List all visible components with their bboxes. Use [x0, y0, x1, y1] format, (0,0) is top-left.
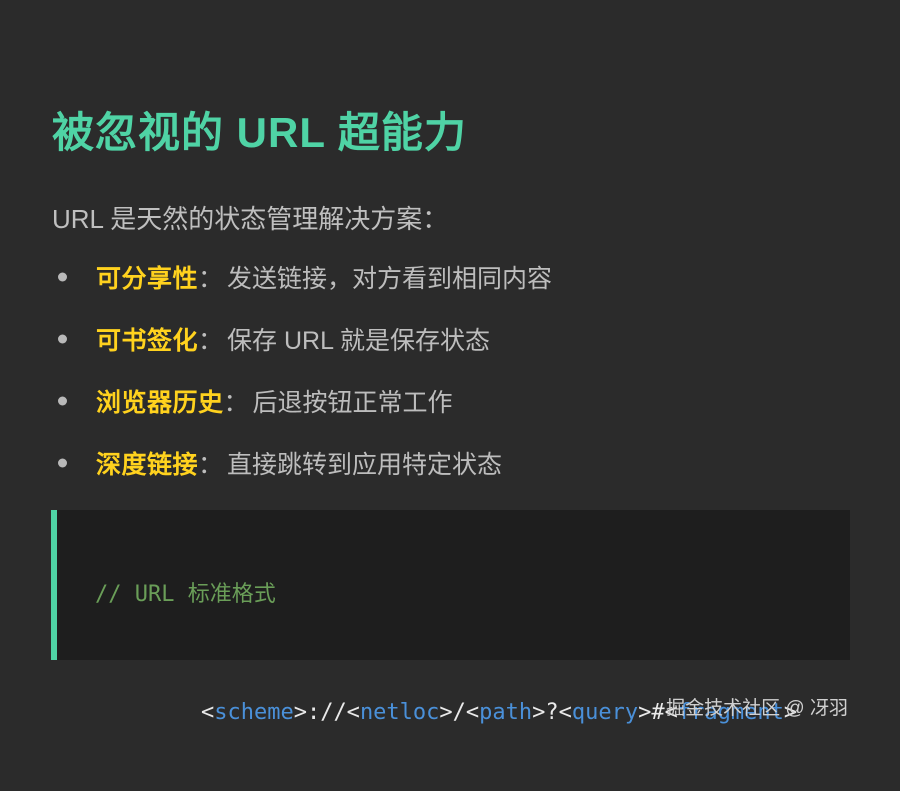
subtitle-text: URL 是天然的状态管理解决方案： [52, 203, 448, 237]
code-token-query: query [572, 700, 638, 725]
list-item: 浏览器历史 ： 后退按钮正常工作 [52, 370, 852, 432]
code-token-punct: >?< [532, 700, 572, 725]
list-item: 可分享性 ： 发送链接，对方看到相同内容 [52, 246, 852, 308]
footer-attribution: 掘金技术社区 @ 冴羽 [666, 693, 848, 720]
slide-root: 被忽视的 URL 超能力 URL 是天然的状态管理解决方案： 可分享性 ： 发送… [0, 0, 900, 744]
code-token-scheme: scheme [214, 700, 293, 725]
bullet-dot-icon [58, 335, 67, 344]
bullet-dot-icon [58, 459, 67, 468]
feature-list: 可分享性 ： 发送链接，对方看到相同内容 可书签化 ： 保存 URL 就是保存状… [52, 246, 852, 494]
list-item-separator: ： [198, 445, 227, 481]
code-token-path: path [479, 700, 532, 725]
list-item-term: 深度链接 [96, 445, 198, 481]
code-content: // URL 标准格式 <scheme>://<netloc>/<path>?<… [57, 510, 850, 790]
list-item-term: 可书签化 [96, 321, 198, 357]
list-item-description: 发送链接，对方看到相同内容 [227, 259, 552, 295]
bullet-dot-icon [58, 397, 67, 406]
list-item-description: 直接跳转到应用特定状态 [227, 445, 502, 481]
list-item-separator: ： [224, 383, 253, 419]
code-block: // URL 标准格式 <scheme>://<netloc>/<path>?<… [51, 510, 850, 660]
list-item-separator: ： [198, 259, 227, 295]
code-token-punct: >/< [439, 700, 479, 725]
list-item-term: 浏览器历史 [96, 383, 224, 419]
code-token-netloc: netloc [360, 700, 439, 725]
page-title: 被忽视的 URL 超能力 [52, 108, 467, 158]
code-token-punct: >://< [294, 700, 360, 725]
list-item-term: 可分享性 [96, 259, 198, 295]
bullet-dot-icon [58, 273, 67, 282]
list-item-description: 保存 URL 就是保存状态 [227, 321, 490, 357]
list-item-description: 后退按钮正常工作 [253, 383, 453, 419]
list-item: 可书签化 ： 保存 URL 就是保存状态 [52, 308, 852, 370]
list-item-separator: ： [198, 321, 227, 357]
list-item: 深度链接 ： 直接跳转到应用特定状态 [52, 432, 852, 494]
code-comment-line: // URL 标准格式 [95, 584, 850, 606]
code-token-punct: < [201, 700, 214, 725]
